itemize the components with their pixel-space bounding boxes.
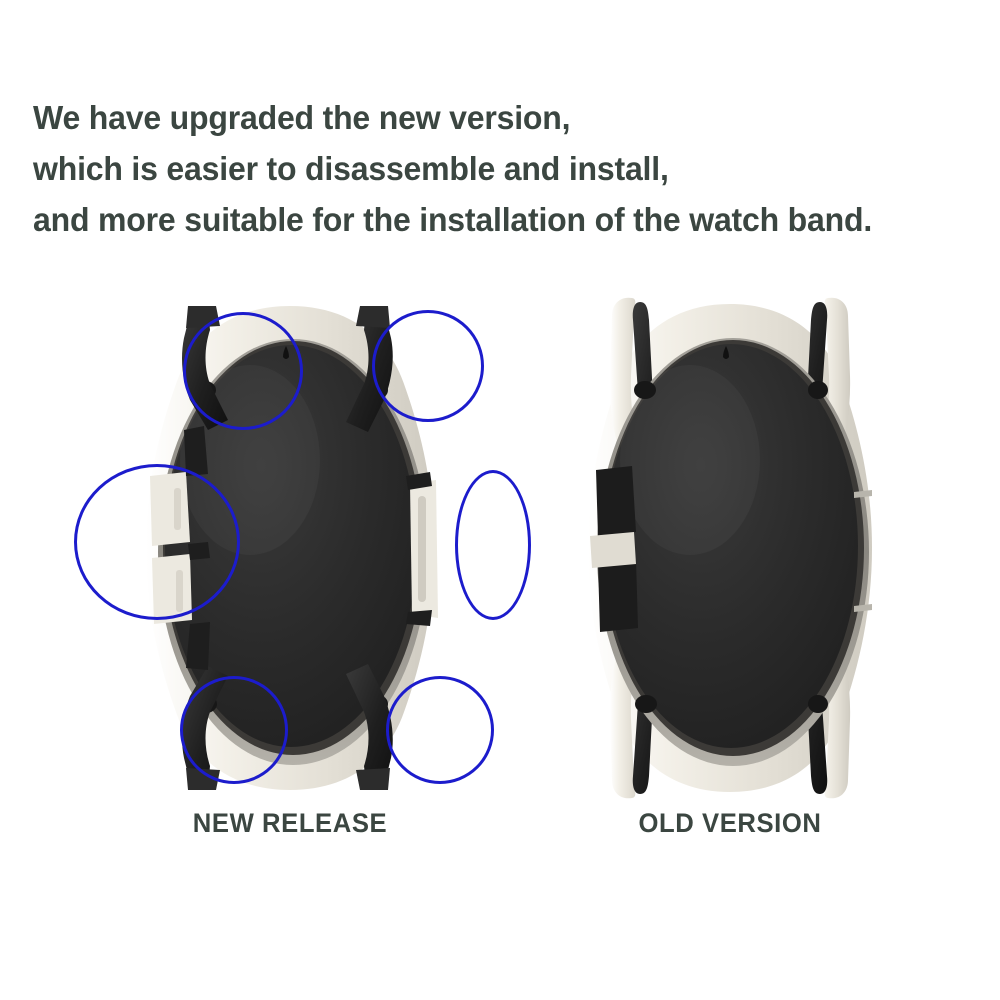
side-gap-left-upper-new bbox=[184, 426, 208, 476]
side-button-lower-left-old bbox=[598, 560, 638, 632]
side-button-upper-left-old bbox=[596, 466, 636, 536]
product-old-version: OLD VERSION bbox=[520, 280, 940, 900]
screw-nub-bottom-left-old bbox=[635, 695, 657, 713]
side-case-notch-left-old bbox=[590, 532, 636, 568]
lug-top-right-tip-new bbox=[356, 306, 390, 328]
headline-line-3: and more suitable for the installation o… bbox=[33, 194, 955, 245]
screw-nub-bottom-right-old bbox=[808, 695, 828, 713]
headline-block: We have upgraded the new version, which … bbox=[33, 92, 983, 245]
lug-top-left-tip-new bbox=[186, 306, 220, 328]
headline-line-1: We have upgraded the new version, bbox=[33, 92, 955, 143]
watch-case-illustration-old bbox=[520, 280, 940, 820]
headline-line-2: which is easier to disassemble and insta… bbox=[33, 143, 955, 194]
side-gap-left-lower-new bbox=[186, 622, 210, 670]
side-button-lower-left-new bbox=[152, 554, 192, 624]
side-gap-right-lower-new bbox=[406, 610, 432, 626]
lug-bottom-left-tip-new bbox=[186, 768, 220, 790]
lug-bottom-right-tip-new bbox=[356, 768, 390, 790]
side-gap-left-mid-new bbox=[188, 542, 210, 560]
caption-new-release: NEW RELEASE bbox=[91, 808, 490, 839]
side-button-lower-left-detail-new bbox=[176, 570, 183, 612]
side-button-upper-left-new bbox=[150, 472, 190, 546]
product-comparison-stage: NEW RELEASE bbox=[0, 280, 1000, 900]
caption-old-version: OLD VERSION bbox=[531, 808, 930, 839]
watch-case-illustration-new bbox=[80, 280, 500, 820]
screw-nub-top-right-old bbox=[808, 381, 828, 399]
screw-nub-top-left-old bbox=[634, 381, 656, 399]
side-button-right-detail-new bbox=[418, 496, 426, 602]
side-button-upper-left-detail-new bbox=[174, 488, 181, 530]
product-new-release: NEW RELEASE bbox=[80, 280, 500, 900]
